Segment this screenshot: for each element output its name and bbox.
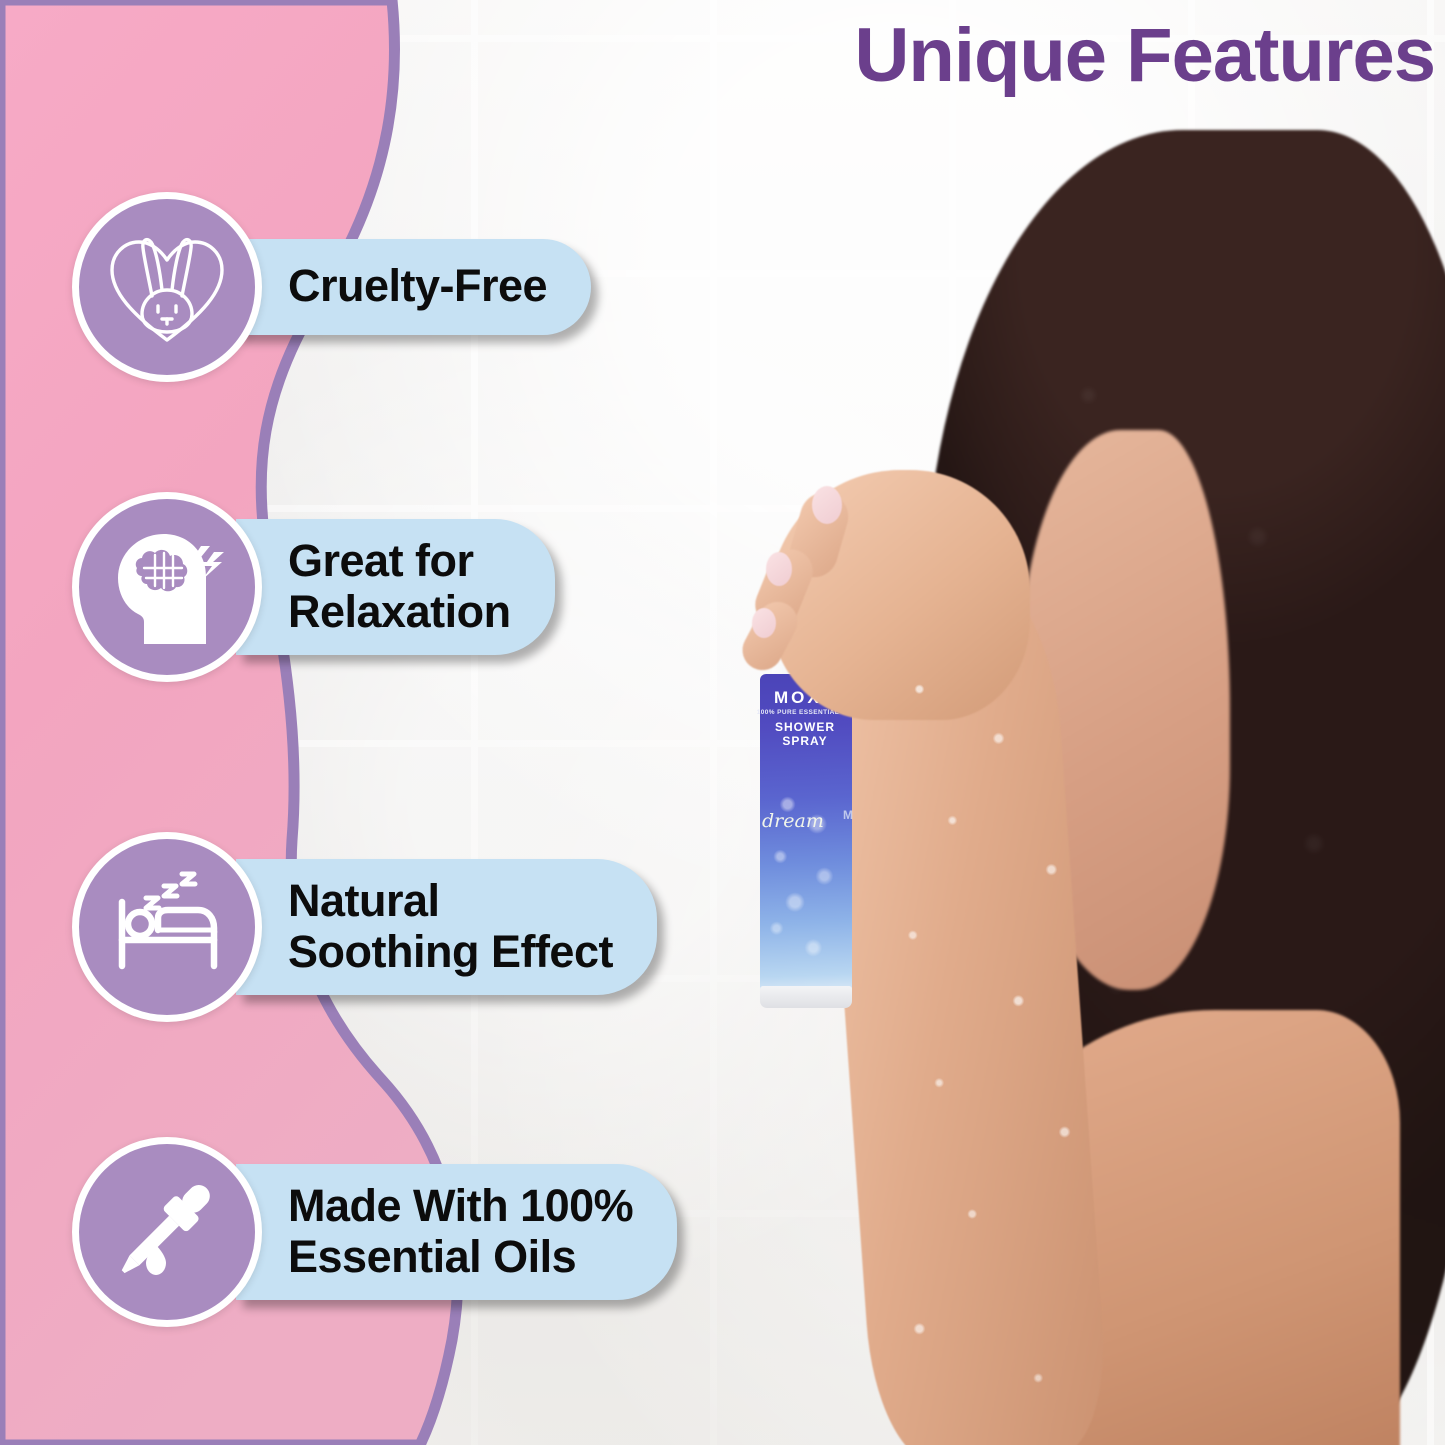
head-brain-icon — [72, 492, 262, 682]
bottle-scent-label: dream — [762, 810, 852, 832]
feature-pill-cruelty-free[interactable]: Cruelty-Free — [236, 239, 591, 335]
feature-row-relaxation[interactable]: Great for Relaxation — [72, 492, 555, 682]
feature-label: Made With 100% Essential Oils — [288, 1180, 633, 1283]
marketing-image: MOXĒ 100% PURE ESSENTIAL OIL SHOWER SPRA… — [0, 0, 1445, 1445]
nail-middle — [766, 552, 792, 586]
nail-ring — [752, 608, 776, 638]
feature-label: Cruelty-Free — [288, 260, 547, 311]
bottle-side-label: M — [843, 808, 854, 822]
feature-row-essential-oils[interactable]: Made With 100% Essential Oils — [72, 1137, 677, 1327]
bottle-base — [760, 986, 852, 1008]
bottle-type-label: SHOWER SPRAY — [752, 720, 858, 748]
feature-pill-soothing[interactable]: Natural Soothing Effect — [236, 859, 657, 996]
nail-index — [812, 486, 842, 524]
feature-pill-relaxation[interactable]: Great for Relaxation — [236, 519, 555, 656]
page-title: Unique Features — [560, 12, 1435, 99]
bunny-heart-icon — [72, 192, 262, 382]
feature-pill-essential-oils[interactable]: Made With 100% Essential Oils — [236, 1164, 677, 1301]
feature-row-cruelty-free[interactable]: Cruelty-Free — [72, 192, 591, 382]
feature-label: Natural Soothing Effect — [288, 875, 613, 978]
dropper-icon — [72, 1137, 262, 1327]
feature-label: Great for Relaxation — [288, 535, 511, 638]
feature-row-soothing[interactable]: Natural Soothing Effect — [72, 832, 657, 1022]
bed-sleep-icon — [72, 832, 262, 1022]
